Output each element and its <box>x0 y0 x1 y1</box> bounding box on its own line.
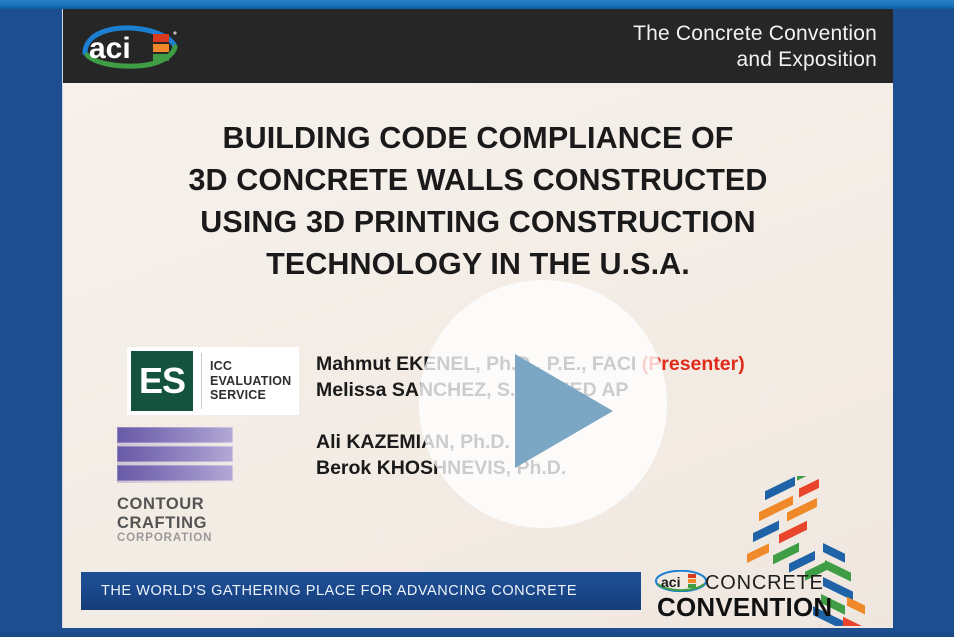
footer-tagline-bar: THE WORLD'S GATHERING PLACE FOR ADVANCIN… <box>81 572 641 610</box>
title-line-2: 3D CONCRETE WALLS CONSTRUCTED <box>63 159 893 201</box>
play-button[interactable] <box>419 280 667 528</box>
contour-crafting-wordmark: CONTOUR CRAFTING <box>117 495 243 532</box>
icc-es-word-3: SERVICE <box>210 388 291 403</box>
contour-crafting-logo: CONTOUR CRAFTING CORPORATION <box>111 427 243 544</box>
svg-text:aci: aci <box>661 574 680 590</box>
icc-es-word-1: ICC <box>210 359 291 374</box>
play-triangle-icon <box>515 354 613 468</box>
svg-text:aci: aci <box>89 32 131 65</box>
icc-evaluation-service-logo: ES ICC EVALUATION SERVICE <box>127 347 299 415</box>
contour-word-2: CRAFTING <box>117 514 243 533</box>
icc-es-mark-icon: ES <box>131 351 193 411</box>
video-player-frame[interactable]: aci The Concrete Convention and Expositi… <box>0 0 954 637</box>
header-tagline: The Concrete Convention and Exposition <box>633 21 877 73</box>
aci-logo-icon: aci <box>79 23 199 71</box>
header-tagline-line1: The Concrete Convention <box>633 21 877 47</box>
title-line-4: TECHNOLOGY IN THE U.S.A. <box>63 243 893 285</box>
slide-header: aci The Concrete Convention and Expositi… <box>63 9 893 83</box>
header-tagline-line2: and Exposition <box>633 47 877 73</box>
footer-tagline-text: THE WORLD'S GATHERING PLACE FOR ADVANCIN… <box>101 583 577 599</box>
contour-word-3: CORPORATION <box>117 532 243 544</box>
icc-es-word-2: EVALUATION <box>210 374 291 389</box>
icc-es-divider <box>201 353 202 409</box>
contour-word-1: CONTOUR <box>117 495 243 514</box>
contour-crafting-mark-icon <box>117 427 233 489</box>
top-accent-bar <box>0 0 954 9</box>
slide-footer: THE WORLD'S GATHERING PLACE FOR ADVANCIN… <box>63 564 893 628</box>
lockup-line-2: CONVENTION <box>657 592 832 623</box>
aci-badge-icon: aci <box>655 570 707 592</box>
title-line-3: USING 3D PRINTING CONSTRUCTION <box>63 201 893 243</box>
icc-es-wordmark: ICC EVALUATION SERVICE <box>210 359 291 403</box>
title-line-1: BUILDING CODE COMPLIANCE OF <box>63 117 893 159</box>
slide-body: BUILDING CODE COMPLIANCE OF 3D CONCRETE … <box>63 83 893 628</box>
slide-title: BUILDING CODE COMPLIANCE OF 3D CONCRETE … <box>63 117 893 285</box>
aci-concrete-convention-lockup: aci CONCRETE CONVENTION <box>653 566 883 626</box>
presentation-slide: aci The Concrete Convention and Expositi… <box>62 9 892 628</box>
bottom-accent-line <box>0 633 954 637</box>
